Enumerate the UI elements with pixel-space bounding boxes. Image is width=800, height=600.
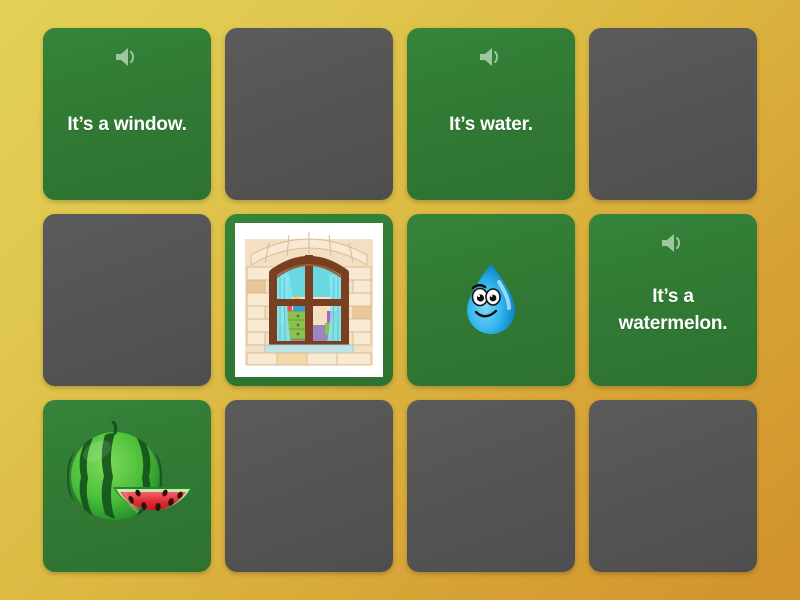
card-1-window-text[interactable]: It’s a window. — [43, 28, 211, 200]
card-3-water-text[interactable]: It’s water. — [407, 28, 575, 200]
card-7-water-drop-image[interactable] — [407, 214, 575, 386]
image-holder — [225, 214, 393, 386]
watermelon-image — [57, 421, 197, 551]
speaker-icon[interactable] — [589, 232, 757, 254]
card-6-window-image[interactable] — [225, 214, 393, 386]
card-label: It’s a watermelon. — [589, 284, 757, 338]
image-holder — [43, 400, 211, 572]
card-label: It’s water. — [439, 112, 543, 139]
card-label: It’s a window. — [57, 112, 196, 139]
speaker-icon[interactable] — [407, 46, 575, 68]
image-plate — [235, 223, 383, 377]
card-11-hidden[interactable] — [407, 400, 575, 572]
matching-pairs-board: It’s a window. It’s water. — [0, 0, 800, 600]
speaker-icon[interactable] — [43, 46, 211, 68]
card-8-watermelon-text[interactable]: It’s a watermelon. — [589, 214, 757, 386]
card-4-hidden[interactable] — [589, 28, 757, 200]
image-holder — [407, 214, 575, 386]
card-9-watermelon-image[interactable] — [43, 400, 211, 572]
card-12-hidden[interactable] — [589, 400, 757, 572]
card-2-hidden[interactable] — [225, 28, 393, 200]
card-5-hidden[interactable] — [43, 214, 211, 386]
card-10-hidden[interactable] — [225, 400, 393, 572]
window-image — [239, 225, 379, 375]
water-drop-image — [459, 260, 523, 340]
